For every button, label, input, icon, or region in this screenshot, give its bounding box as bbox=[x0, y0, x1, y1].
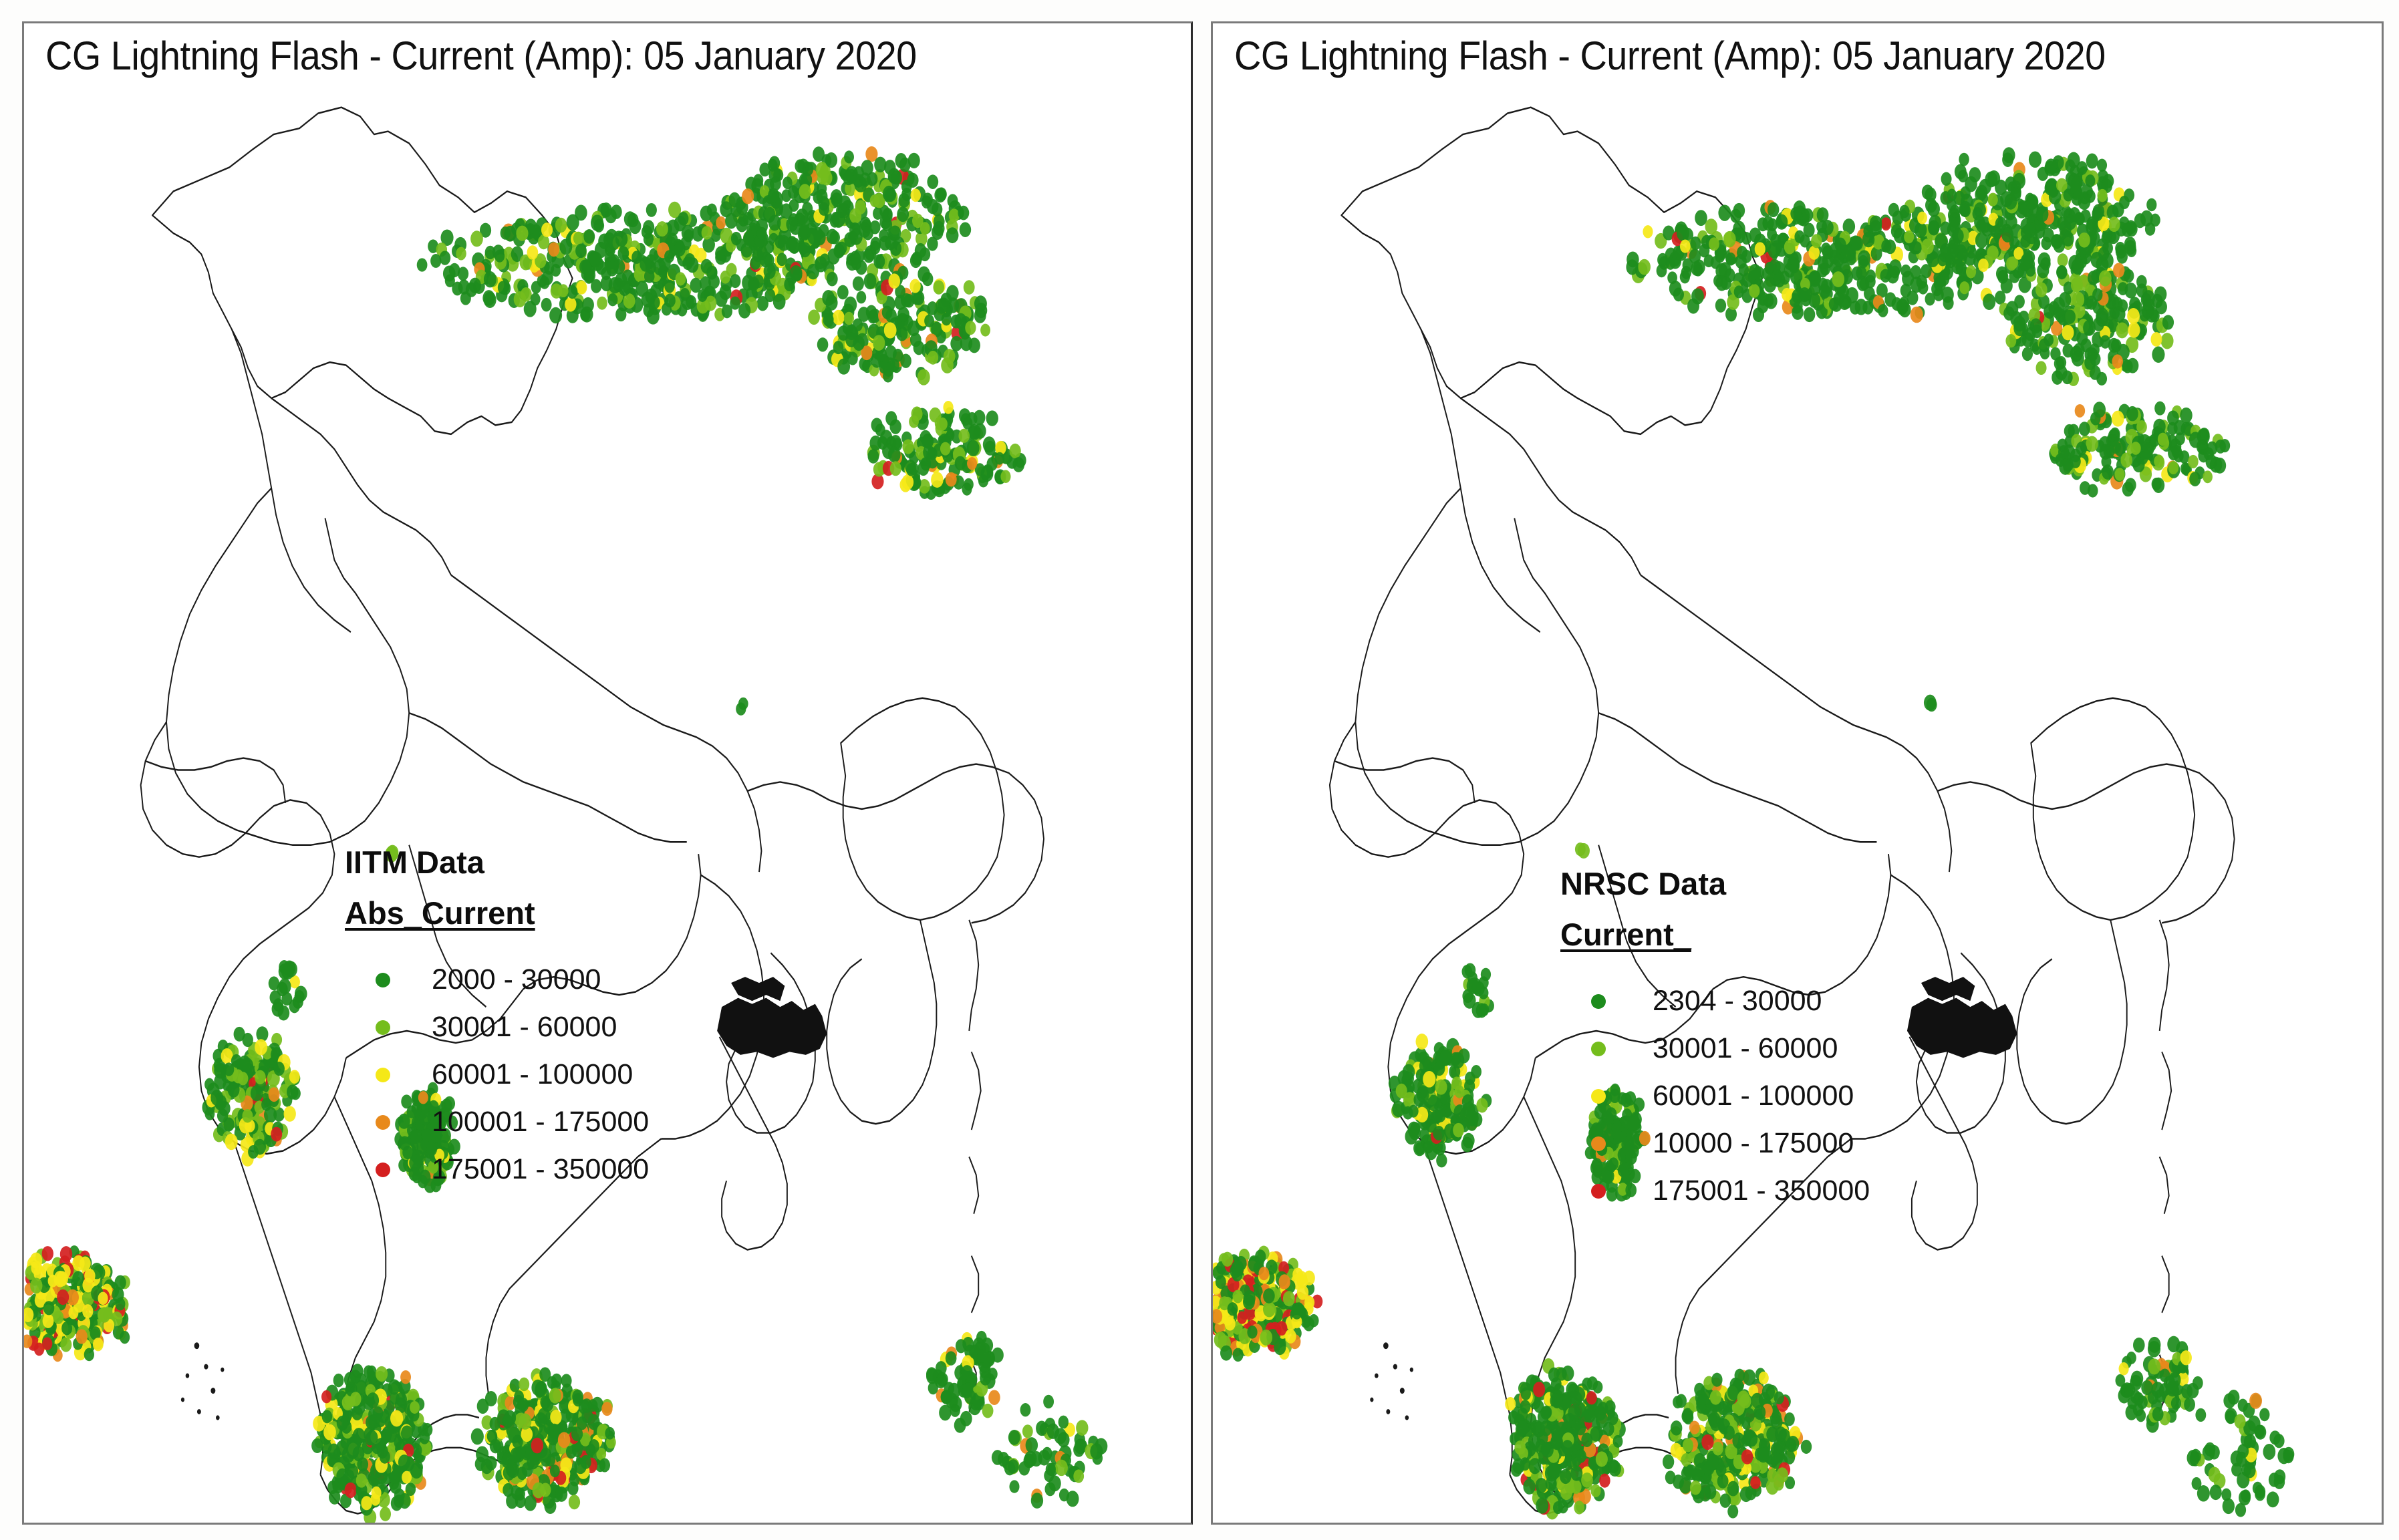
legend-item[interactable]: 100001 - 175000 bbox=[345, 1098, 649, 1146]
legend-swatch-icon bbox=[376, 1163, 390, 1177]
figure-canvas: CG Lightning Flash - Current (Amp): 05 J… bbox=[0, 0, 2399, 1540]
legend-item[interactable]: 60001 - 100000 bbox=[1560, 1072, 1870, 1120]
legend-item-label: 2000 - 30000 bbox=[432, 963, 601, 996]
legend-right-rows: 2304 - 30000 30001 - 60000 60001 - 10000… bbox=[1560, 977, 1870, 1215]
legend-swatch-icon bbox=[376, 1068, 390, 1082]
legend-swatch-icon bbox=[1591, 1184, 1606, 1199]
legend-item[interactable]: 2000 - 30000 bbox=[345, 956, 649, 1004]
legend-left-field: Abs_Current bbox=[345, 888, 649, 939]
legend-item-label: 60001 - 100000 bbox=[1653, 1080, 1854, 1112]
legend-item-label: 30001 - 60000 bbox=[432, 1011, 617, 1044]
panel-left: CG Lightning Flash - Current (Amp): 05 J… bbox=[22, 21, 1193, 1525]
legend-swatch-icon bbox=[1591, 1042, 1606, 1056]
legend-item-label: 2304 - 30000 bbox=[1653, 985, 1822, 1018]
lightning-points-left bbox=[24, 23, 1191, 1523]
panel-right: CG Lightning Flash - Current (Amp): 05 J… bbox=[1211, 21, 2384, 1525]
legend-swatch-icon bbox=[1591, 1089, 1606, 1104]
legend-swatch-icon bbox=[376, 973, 390, 987]
legend-swatch-icon bbox=[1591, 1136, 1606, 1151]
legend-item[interactable]: 175001 - 350000 bbox=[345, 1146, 649, 1193]
legend-right-source: NRSC Data bbox=[1560, 859, 1870, 909]
legend-left-rows: 2000 - 30000 30001 - 60000 60001 - 10000… bbox=[345, 956, 649, 1193]
legend-swatch-icon bbox=[376, 1020, 390, 1035]
legend-right-field: Current_ bbox=[1560, 909, 1870, 960]
legend-item[interactable]: 10000 - 175000 bbox=[1560, 1120, 1870, 1167]
legend-item-label: 60001 - 100000 bbox=[432, 1058, 633, 1091]
legend-item[interactable]: 30001 - 60000 bbox=[345, 1004, 649, 1051]
legend-item[interactable]: 175001 - 350000 bbox=[1560, 1167, 1870, 1215]
map-left bbox=[24, 23, 1191, 1523]
legend-left: IITM Data Abs_Current 2000 - 30000 30001… bbox=[345, 837, 649, 1193]
legend-left-source: IITM Data bbox=[345, 837, 649, 888]
legend-item[interactable]: 2304 - 30000 bbox=[1560, 977, 1870, 1025]
legend-swatch-icon bbox=[1591, 994, 1606, 1009]
legend-item-label: 175001 - 350000 bbox=[432, 1153, 649, 1186]
legend-right: NRSC Data Current_ 2304 - 30000 30001 - … bbox=[1560, 859, 1870, 1215]
legend-item-label: 100001 - 175000 bbox=[432, 1106, 649, 1138]
legend-item-label: 30001 - 60000 bbox=[1653, 1032, 1838, 1065]
legend-item[interactable]: 60001 - 100000 bbox=[345, 1051, 649, 1098]
legend-item[interactable]: 30001 - 60000 bbox=[1560, 1025, 1870, 1072]
legend-item-label: 175001 - 350000 bbox=[1653, 1175, 1870, 1207]
legend-swatch-icon bbox=[376, 1115, 390, 1130]
lightning-points-right bbox=[1213, 23, 2382, 1523]
map-right bbox=[1213, 23, 2382, 1523]
legend-item-label: 10000 - 175000 bbox=[1653, 1127, 1854, 1160]
